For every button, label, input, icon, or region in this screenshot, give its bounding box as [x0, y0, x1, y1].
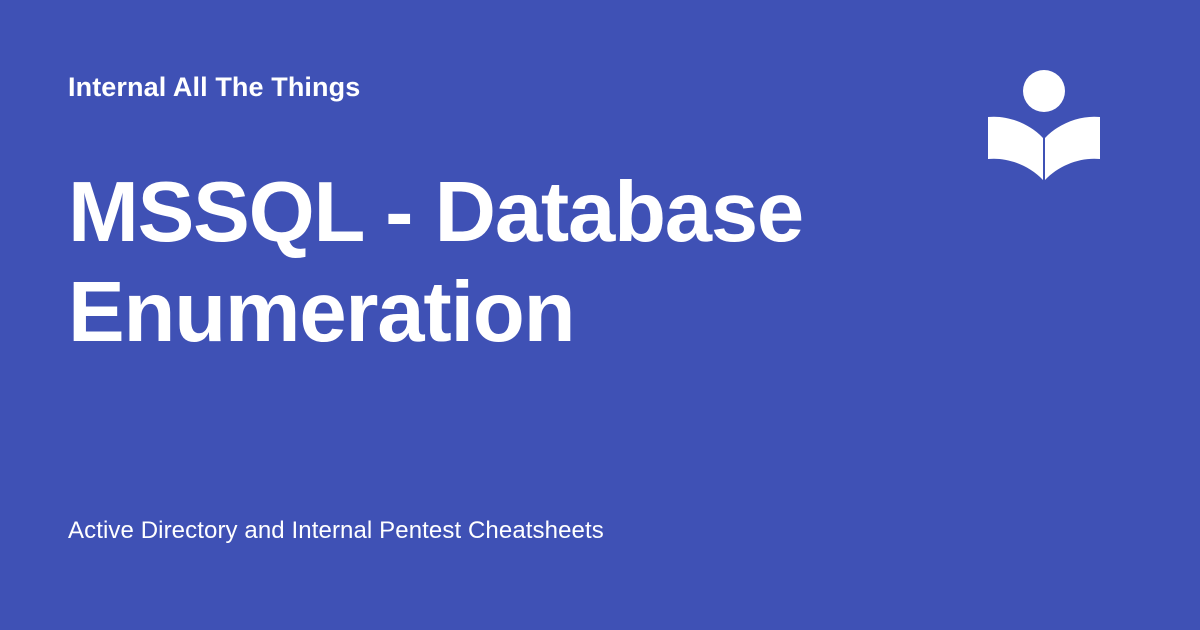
open-graph-card: Internal All The Things MSSQL - Database… — [0, 0, 1200, 630]
open-book-reader-icon — [985, 66, 1103, 184]
site-tagline: Active Directory and Internal Pentest Ch… — [68, 515, 604, 547]
page-title: MSSQL - Database Enumeration — [68, 163, 898, 363]
card-text-content: Internal All The Things MSSQL - Database… — [68, 0, 968, 630]
site-name: Internal All The Things — [68, 70, 360, 104]
